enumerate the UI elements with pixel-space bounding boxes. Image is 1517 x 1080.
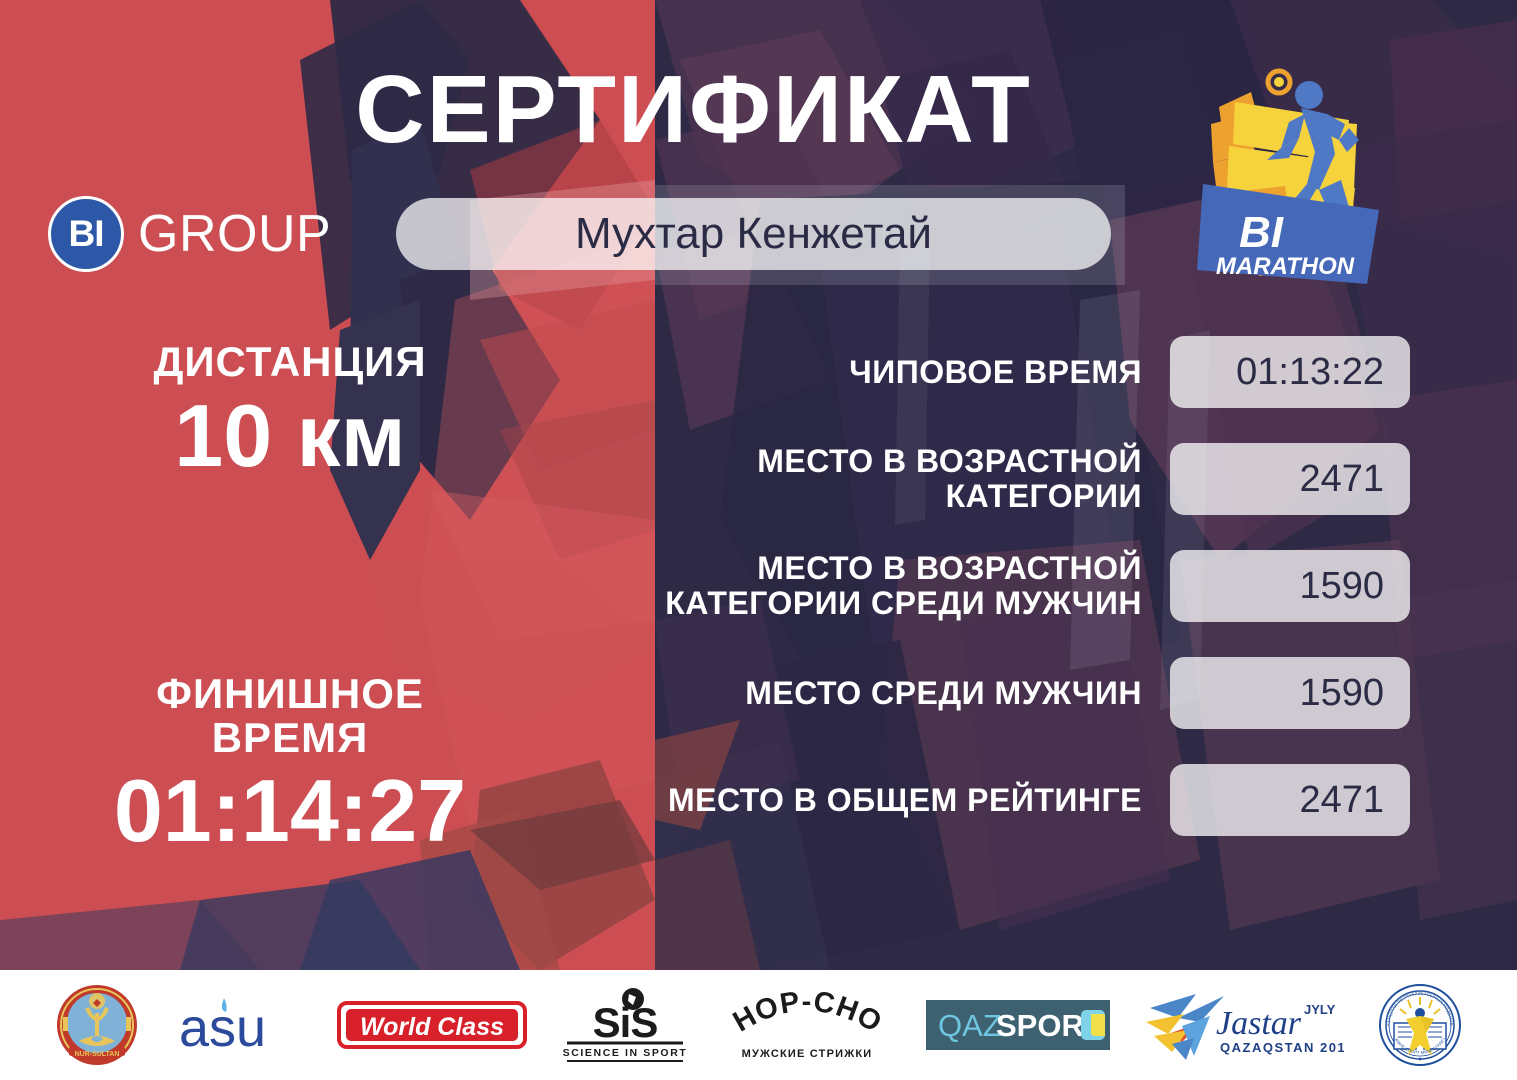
stat-row-age-category-men-place: МЕСТО В ВОЗРАСТНОЙ КАТЕГОРИИ СРЕДИ МУЖЧИ… <box>620 550 1410 622</box>
chop-chop-wordmark: CHOP-CHOP <box>722 987 888 1039</box>
stat-value-pill: 1590 <box>1170 550 1410 622</box>
sponsor-nur-sultan: NUR-SULTAN <box>55 983 139 1067</box>
distance-value: 10 км <box>0 390 580 482</box>
asu-logo-icon: asu <box>173 990 303 1060</box>
jyly-superscript: JYLY <box>1304 1002 1336 1017</box>
stat-value-pill: 01:13:22 <box>1170 336 1410 408</box>
sponsor-chop-chop: CHOP-CHOP МУЖСКИЕ СТРИЖКИ <box>722 983 892 1067</box>
stat-label: МЕСТО СРЕДИ МУЖЧИН <box>620 676 1142 711</box>
sis-tagline: SCIENCE IN SPORT <box>562 1047 687 1059</box>
nur-sultan-emblem-icon: NUR-SULTAN <box>55 983 139 1067</box>
bi-badge-icon: BI <box>48 196 124 272</box>
chop-chop-logo-icon: CHOP-CHOP МУЖСКИЕ СТРИЖКИ <box>722 987 892 1063</box>
jastar-tagline: QAZAQSTAN 2019 <box>1220 1040 1344 1055</box>
jastar-wordmark: Jastar <box>1216 1005 1302 1042</box>
stat-value-pill: 2471 <box>1170 443 1410 515</box>
sponsor-sis: SiS SCIENCE IN SPORT <box>561 983 689 1067</box>
sponsor-ministry: ҚАЗАҚСТАН РЕСПУБЛИКАСЫНЫҢ МӘДЕНИЕТ ЖӘНЕ … <box>1378 983 1462 1067</box>
stat-row-chip-time: ЧИПОВОЕ ВРЕМЯ 01:13:22 <box>620 336 1410 408</box>
sis-wordmark: SiS <box>592 999 657 1046</box>
stat-label: МЕСТО В ВОЗРАСТНОЙ КАТЕГОРИИ СРЕДИ МУЖЧИ… <box>620 551 1142 620</box>
stat-row-overall-place: МЕСТО В ОБЩЕМ РЕЙТИНГЕ 2471 <box>620 764 1410 836</box>
stat-row-men-place: МЕСТО СРЕДИ МУЖЧИН 1590 <box>620 657 1410 729</box>
finish-time-block: ФИНИШНОЕ ВРЕМЯ 01:14:27 <box>0 672 580 858</box>
sponsor-qazsport: QAZ SPORT <box>926 983 1110 1067</box>
finish-time-label-line1: ФИНИШНОЕ <box>0 672 580 716</box>
bi-marathon-logo-icon: BI MARATHON <box>1189 62 1389 297</box>
bi-group-logo: BI GROUP <box>48 196 331 272</box>
stat-label: ЧИПОВОЕ ВРЕМЯ <box>620 355 1142 390</box>
stats-column: ЧИПОВОЕ ВРЕМЯ 01:13:22 МЕСТО В ВОЗРАСТНО… <box>620 336 1410 836</box>
left-summary-column: ДИСТАНЦИЯ 10 км ФИНИШНОЕ ВРЕМЯ 01:14:27 <box>0 340 580 858</box>
qazsport-logo-icon: QAZ SPORT <box>926 1000 1110 1050</box>
sponsor-asu: asu <box>173 983 303 1067</box>
chop-chop-tagline: МУЖСКИЕ СТРИЖКИ <box>742 1048 873 1060</box>
marathon-logo-bi-text: BI <box>1239 208 1284 257</box>
qazsport-qaz-text: QAZ <box>938 1008 1002 1043</box>
jastar-jyly-logo-icon: Jastar JYLY QAZAQSTAN 2019 <box>1144 986 1344 1064</box>
marathon-logo-marathon-text: MARATHON <box>1216 253 1355 280</box>
nur-sultan-label: NUR-SULTAN <box>75 1051 120 1058</box>
sponsor-world-class: World Class <box>337 983 527 1067</box>
distance-label: ДИСТАНЦИЯ <box>0 340 580 384</box>
stat-row-age-category-place: МЕСТО В ВОЗРАСТНОЙ КАТЕГОРИИ 2471 <box>620 443 1410 515</box>
stat-label: МЕСТО В ВОЗРАСТНОЙ КАТЕГОРИИ <box>620 444 1142 513</box>
finish-time-value: 01:14:27 <box>0 765 580 857</box>
participant-name-field: Мухтар Кенжетай <box>396 198 1111 270</box>
distance-block: ДИСТАНЦИЯ 10 км <box>0 340 580 482</box>
world-class-logo-icon: World Class <box>337 995 527 1055</box>
ministry-emblem-icon: ҚАЗАҚСТАН РЕСПУБЛИКАСЫНЫҢ МӘДЕНИЕТ ЖӘНЕ … <box>1378 983 1462 1067</box>
bi-group-wordmark: GROUP <box>138 208 331 260</box>
bi-marathon-logo: BI MARATHON <box>1189 62 1389 297</box>
sponsor-jastar-jyly: Jastar JYLY QAZAQSTAN 2019 <box>1144 983 1344 1067</box>
stat-value-pill: 1590 <box>1170 657 1410 729</box>
certificate-card: СЕРТИФИКАТ BI GROUP Мухтар Кенжетай <box>0 0 1517 1080</box>
stat-label: МЕСТО В ОБЩЕМ РЕЙТИНГЕ <box>620 783 1142 818</box>
world-class-wordmark: World Class <box>360 1013 504 1041</box>
sis-logo-icon: SiS SCIENCE IN SPORT <box>561 987 689 1063</box>
stat-value-pill: 2471 <box>1170 764 1410 836</box>
finish-time-label-line2: ВРЕМЯ <box>0 716 580 760</box>
sponsor-logo-strip: NUR-SULTAN asu World Class SiS <box>0 970 1517 1080</box>
